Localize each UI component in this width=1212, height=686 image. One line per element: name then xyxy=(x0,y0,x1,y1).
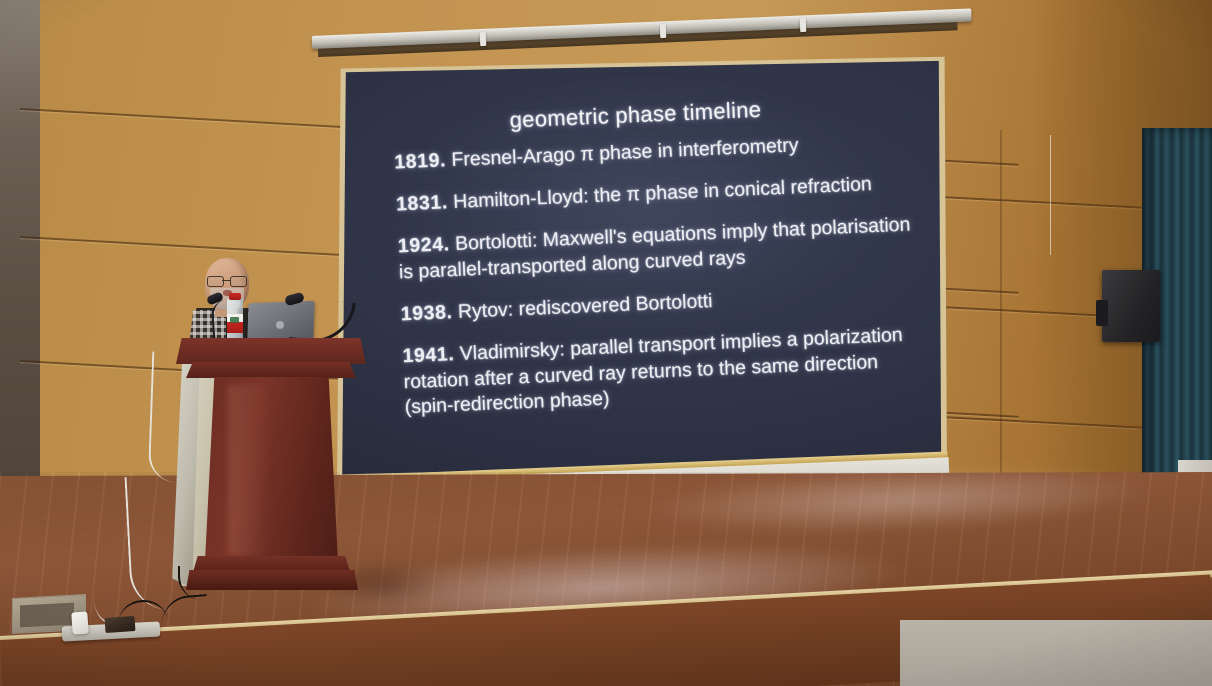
slide-line-text: Fresnel-Arago π phase in interferometry xyxy=(446,134,799,171)
slide-line-year: 1941. xyxy=(402,343,455,367)
cable xyxy=(148,352,181,483)
slide-line-year: 1938. xyxy=(400,301,453,325)
slide-line-text: Hamilton-Lloyd: the π phase in conical r… xyxy=(447,173,872,213)
podium-base xyxy=(186,570,358,590)
slide-line: 1819. Fresnel-Arago π phase in interfero… xyxy=(394,128,913,175)
valance-clip xyxy=(800,18,807,32)
valance-clip xyxy=(660,24,667,38)
slide-line-list: 1819. Fresnel-Arago π phase in interfero… xyxy=(394,128,924,437)
lecture-hall-photo: geometric phase timeline 1819. Fresnel-A… xyxy=(0,0,1212,686)
hall-floor xyxy=(900,620,1212,686)
slide-content: geometric phase timeline 1819. Fresnel-A… xyxy=(341,58,943,476)
slide-line-year: 1819. xyxy=(394,149,447,173)
slide-line: 1938. Rytov: rediscovered Bortolotti xyxy=(400,280,919,327)
podium-top xyxy=(176,338,366,364)
speaker-mount-bracket xyxy=(1096,300,1108,326)
hanging-wire xyxy=(1050,135,1051,255)
wall-side-return xyxy=(0,0,40,520)
slide-line-text: Bortolotti: Maxwell's equations imply th… xyxy=(399,213,911,282)
power-adapter xyxy=(71,611,88,634)
slide-line-text: Rytov: rediscovered Bortolotti xyxy=(452,290,713,323)
eyeglasses-bridge xyxy=(222,280,231,281)
power-plug xyxy=(105,616,136,633)
projection-screen: geometric phase timeline 1819. Fresnel-A… xyxy=(341,58,943,476)
slide-line: 1924. Bortolotti: Maxwell's equations im… xyxy=(397,212,917,285)
water-bottle-label-mark xyxy=(230,317,239,323)
slide-line-year: 1831. xyxy=(396,191,449,215)
podium-lip xyxy=(186,362,356,378)
slide-line-text: Vladimirsky: parallel transport implies … xyxy=(403,324,903,418)
water-bottle-cap xyxy=(229,293,241,300)
podium-base xyxy=(193,556,350,572)
slide-line-year: 1924. xyxy=(397,233,450,257)
laptop-logo xyxy=(276,321,284,329)
valance-clip xyxy=(480,32,487,46)
floor-vent-grille xyxy=(20,603,74,628)
wall-seam xyxy=(1000,130,1002,510)
slide-line: 1941. Vladimirsky: parallel transport im… xyxy=(402,322,923,421)
wall-loudspeaker xyxy=(1102,270,1160,342)
slide-line: 1831. Hamilton-Lloyd: the π phase in con… xyxy=(396,170,915,217)
podium-highlight xyxy=(228,385,272,555)
